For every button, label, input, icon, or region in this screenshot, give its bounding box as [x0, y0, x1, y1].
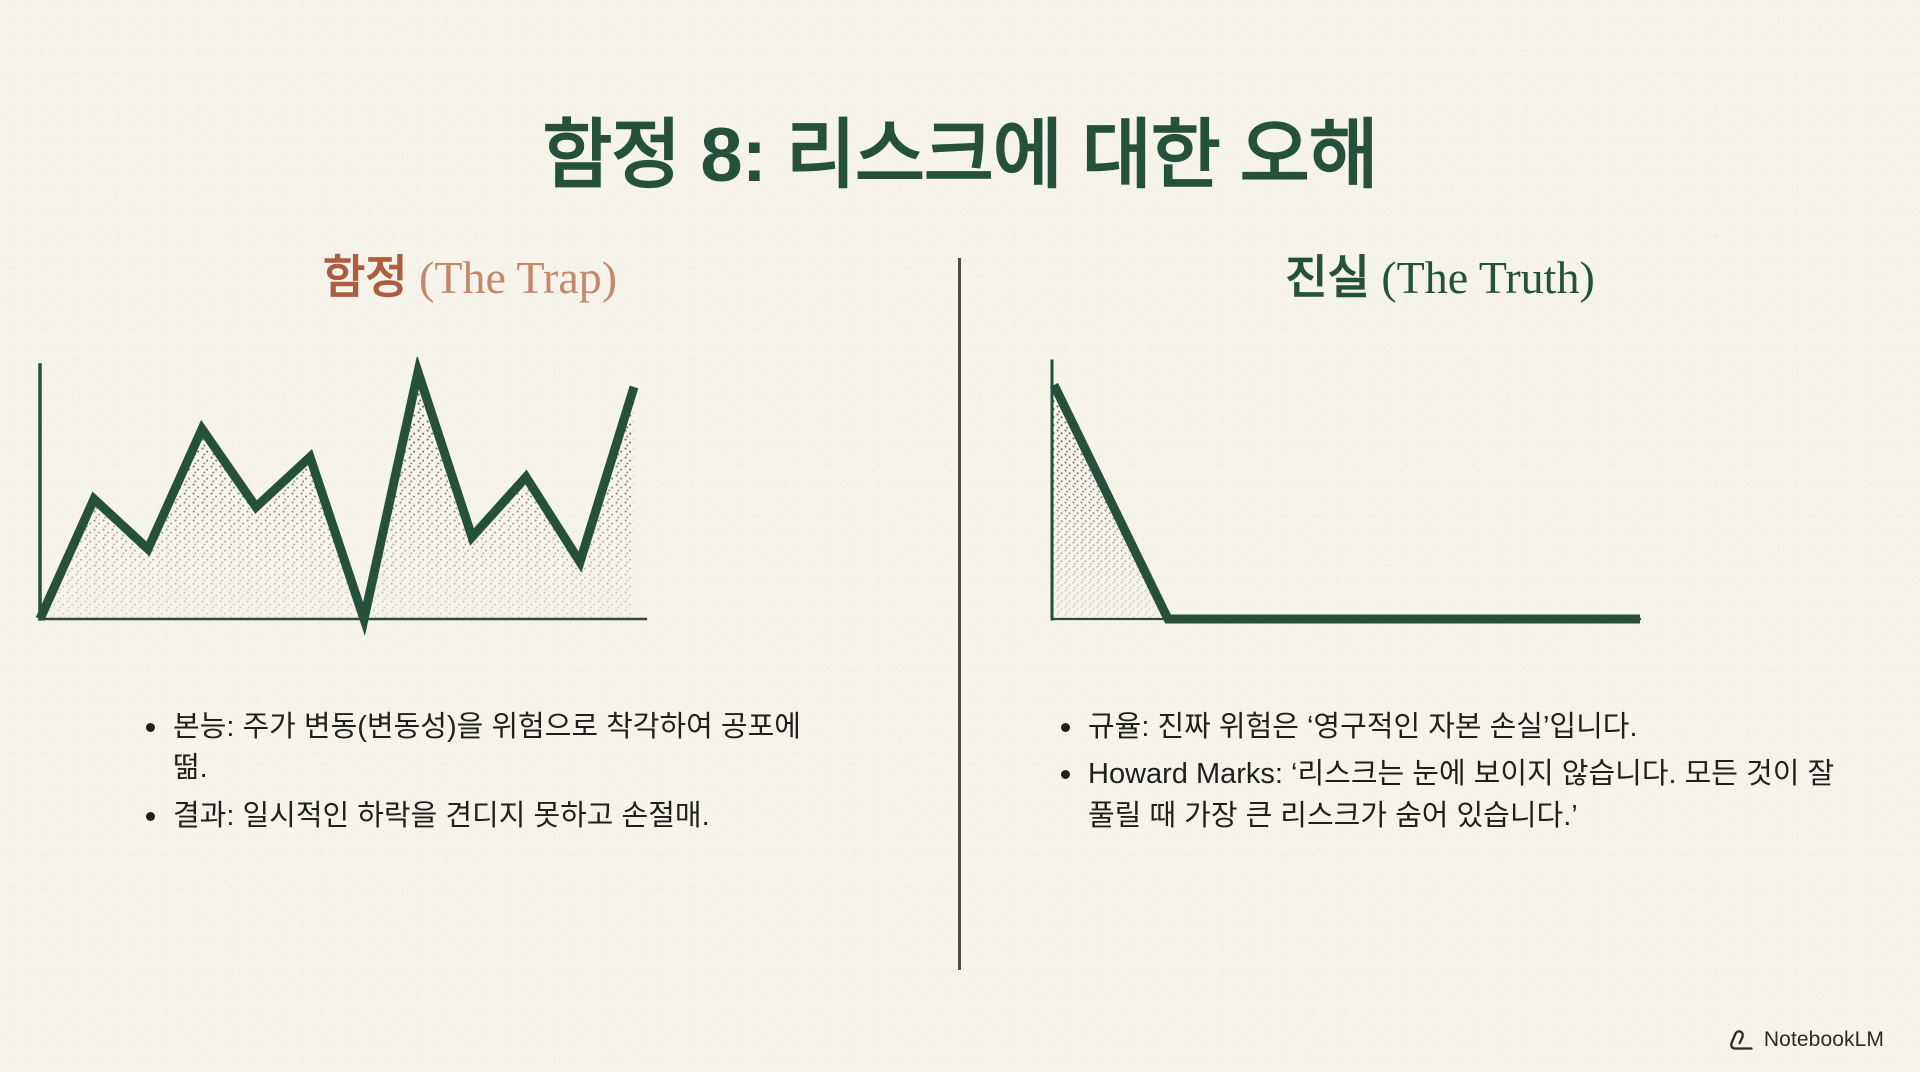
notebooklm-brand: NotebookLM: [1729, 1028, 1884, 1052]
column-truth-heading: 진실 (The Truth): [1000, 250, 1880, 305]
page-title: 함정 8: 리스크에 대한 오해: [0, 113, 1920, 198]
column-trap: 함정 (The Trap): [30, 250, 910, 843]
trap-bullet-list: 본능: 주가 변동(변동성)을 위험으로 착각하여 공포에 떪. 결과: 일시적…: [140, 707, 820, 837]
column-trap-heading-ko: 함정: [323, 251, 408, 303]
column-truth: 진실 (The Truth): [1000, 250, 1880, 843]
column-trap-heading-en: (The Trap): [419, 252, 617, 303]
column-divider: [958, 258, 961, 970]
column-truth-heading-en: (The Truth): [1381, 252, 1594, 303]
list-item: 규율: 진짜 위험은 ‘영구적인 자본 손실’입니다.: [1055, 707, 1845, 748]
column-trap-heading: 함정 (The Trap): [30, 250, 910, 305]
notebooklm-spiral-icon: [1729, 1029, 1755, 1051]
truth-bullet-list: 규율: 진짜 위험은 ‘영구적인 자본 손실’입니다. Howard Marks…: [1055, 707, 1845, 837]
volatility-chart: [30, 357, 910, 657]
list-item: 본능: 주가 변동(변동성)을 위험으로 착각하여 공포에 떪.: [140, 707, 820, 789]
column-truth-heading-ko: 진실: [1285, 251, 1370, 303]
notebooklm-label: NotebookLM: [1764, 1028, 1884, 1052]
list-item: Howard Marks: ‘리스크는 눈에 보이지 않습니다. 모든 것이 잘…: [1055, 754, 1845, 836]
permanent-loss-chart: [1000, 357, 1880, 657]
list-item: 결과: 일시적인 하락을 견디지 못하고 손절매.: [140, 796, 820, 837]
slide-root: 함정 8: 리스크에 대한 오해 함정 (The Trap): [0, 0, 1920, 1072]
